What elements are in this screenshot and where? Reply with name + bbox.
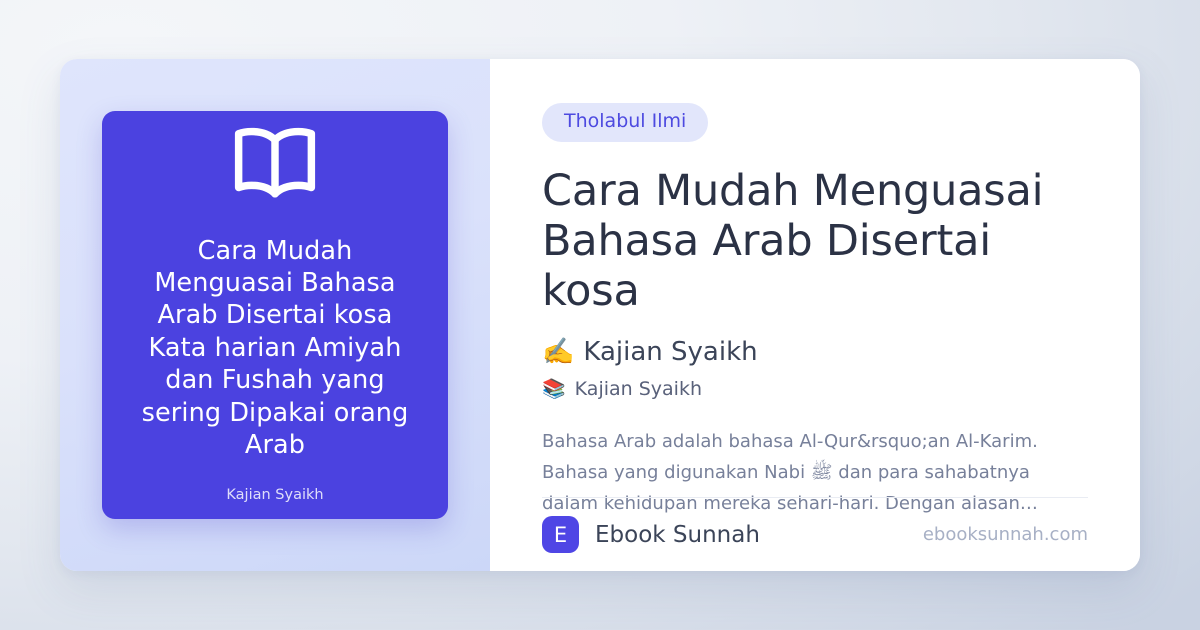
books-emoji: 📚 (542, 378, 566, 401)
author-meta-primary: ✍️ Kajian Syaikh (542, 337, 1088, 368)
author-meta-secondary: 📚 Kajian Syaikh (542, 378, 1088, 401)
category-badge[interactable]: Tholabul Ilmi (542, 103, 708, 142)
site-domain: ebooksunnah.com (923, 524, 1088, 545)
open-book-icon (229, 121, 321, 201)
writing-hand-emoji: ✍️ (542, 337, 574, 368)
author-name-primary: Kajian Syaikh (583, 337, 757, 368)
site-avatar: E (542, 516, 579, 553)
page-title: Cara Mudah Menguasai Bahasa Arab Diserta… (542, 166, 1072, 317)
site-name: Ebook Sunnah (595, 522, 760, 548)
content-panel: Tholabul Ilmi Cara Mudah Menguasai Bahas… (490, 59, 1140, 571)
link-preview-card[interactable]: Cara Mudah Menguasai Bahasa Arab Diserta… (60, 59, 1140, 571)
book-cover: Cara Mudah Menguasai Bahasa Arab Diserta… (102, 111, 448, 519)
book-cover-author: Kajian Syaikh (226, 487, 323, 503)
preview-footer: E Ebook Sunnah ebooksunnah.com (542, 497, 1088, 571)
book-cover-title: Cara Mudah Menguasai Bahasa Arab Diserta… (125, 235, 425, 462)
author-name-secondary: Kajian Syaikh (575, 378, 702, 401)
book-cover-panel: Cara Mudah Menguasai Bahasa Arab Diserta… (60, 59, 490, 571)
description-text: Bahasa Arab adalah bahasa Al-Qur&rsquo;a… (542, 427, 1088, 489)
